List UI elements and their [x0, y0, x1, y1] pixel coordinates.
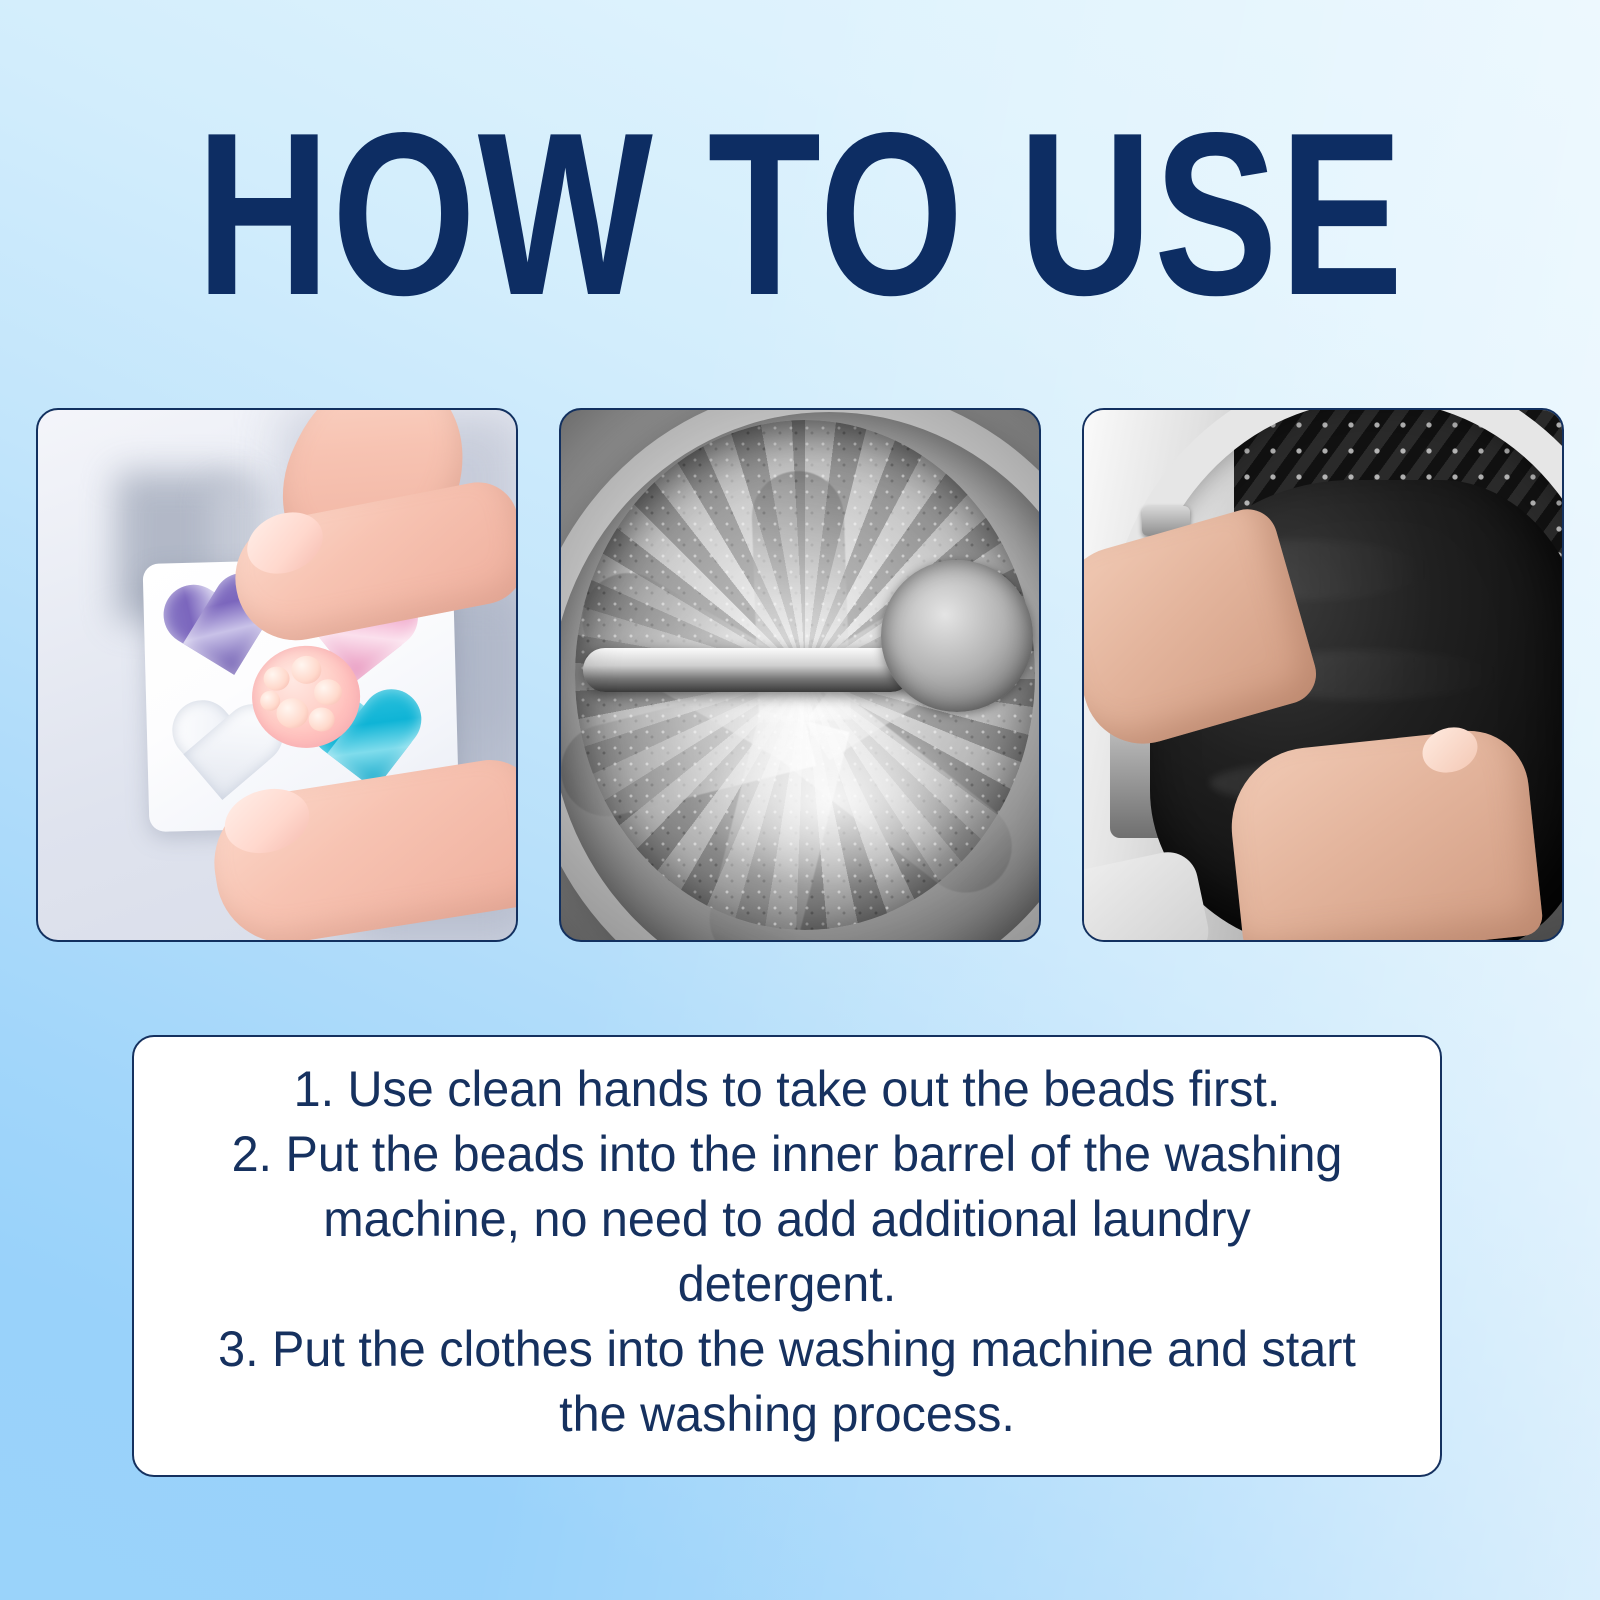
hand: [1224, 725, 1544, 942]
instruction-step-1: 1. Use clean hands to take out the beads…: [210, 1057, 1364, 1122]
metal-highlight: [691, 710, 971, 890]
instruction-step-3: 3. Put the clothes into the washing mach…: [210, 1317, 1364, 1447]
page-title: HOW TO USE: [196, 108, 1405, 321]
instruction-steps-list: 1. Use clean hands to take out the beads…: [210, 1057, 1364, 1447]
photo-laundry-pod-in-hand: [36, 408, 518, 942]
photo-washing-machine-drum: [559, 408, 1041, 942]
photo-loading-clothes: [1082, 408, 1564, 942]
instruction-card: 1. Use clean hands to take out the beads…: [132, 1035, 1442, 1477]
photo-row: [36, 408, 1564, 942]
page-title-container: HOW TO USE: [0, 108, 1600, 321]
instruction-step-2: 2. Put the beads into the inner barrel o…: [210, 1122, 1364, 1317]
how-to-use-poster: HOW TO USE: [0, 0, 1600, 1600]
